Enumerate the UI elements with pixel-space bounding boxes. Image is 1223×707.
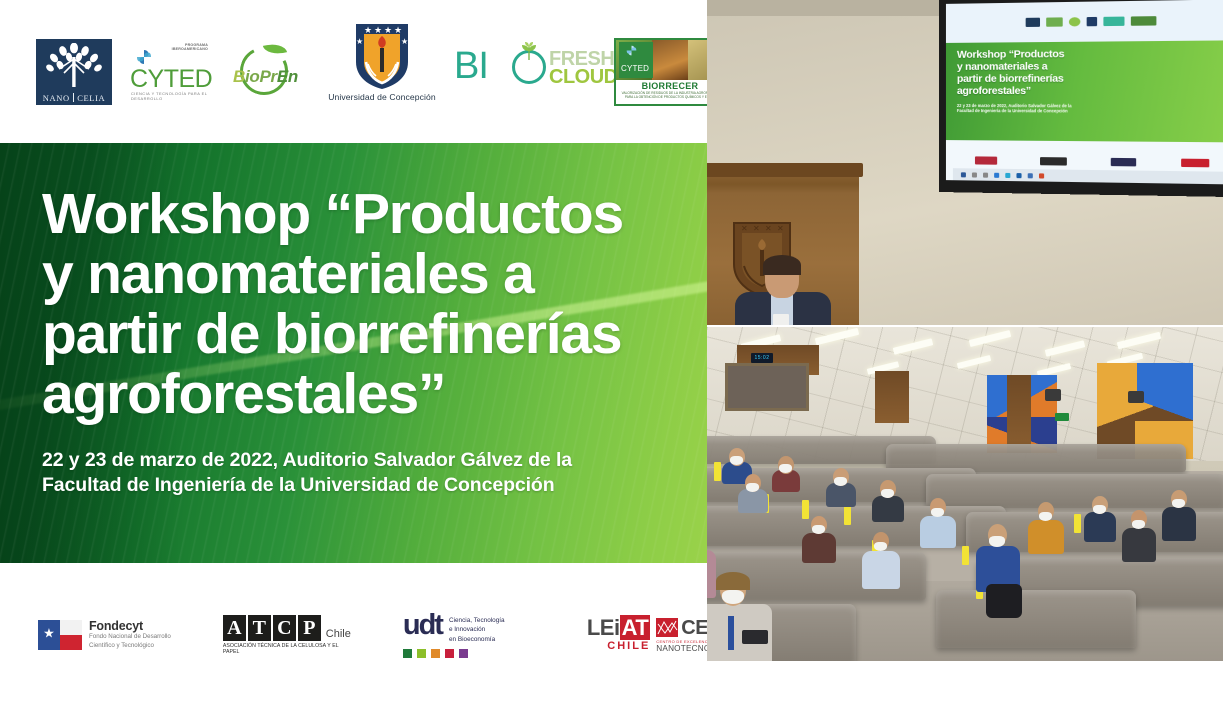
slide-logo-udec <box>1086 17 1096 26</box>
svg-text:★: ★ <box>401 37 408 46</box>
slide-top-logos <box>946 0 1223 43</box>
svg-text:✕: ✕ <box>741 224 748 233</box>
logo-nano-celia: NANOCELIA <box>36 39 112 105</box>
svg-text:★: ★ <box>384 26 392 36</box>
svg-text:★: ★ <box>374 26 382 36</box>
attendee <box>862 532 900 588</box>
event-poster: NANOCELIA PROGRAMA IBEROAMERICANO CYTED … <box>0 0 707 707</box>
slide-logo-leitat-cen <box>1181 158 1209 167</box>
projection-screen-frame: Workshop “Productos y nanomateriales a p… <box>939 0 1223 197</box>
attendee <box>976 524 1020 616</box>
udec-shield-icon: ★ ★ ★ ★ ★ ★ <box>354 22 410 90</box>
projected-slide: Workshop “Productos y nanomateriales a p… <box>946 0 1223 185</box>
cyted-program-label: PROGRAMA IBEROAMERICANO <box>172 43 208 52</box>
photo-speaker-at-podium: Workshop “Productos y nanomateriales a p… <box>707 0 1223 325</box>
speaker-hair <box>763 255 801 275</box>
wall-speaker <box>1128 391 1144 403</box>
atcp-letter-a: A <box>223 615 246 641</box>
logo-bio-fresh-cloud: BI FRESH CLOUD <box>454 39 596 105</box>
attendee <box>1028 502 1064 552</box>
fondecyt-desc-line2: Científico y Tecnológico <box>89 642 171 651</box>
atcp-tagline: ASOCIACIÓN TÉCNICA DE LA CELULOSA Y EL P… <box>223 643 351 655</box>
logo-udt: udt Ciencia, Tecnología e Innovación en … <box>403 612 535 659</box>
slide-logo-biorrecer <box>1130 16 1156 26</box>
udec-wordmark: Universidad de Concepción <box>328 92 436 102</box>
page-title: Workshop “Productos y nanomateriales a p… <box>42 185 662 424</box>
slide-logo-biopren <box>1068 17 1079 26</box>
subtitle-line: 22 y 23 de marzo de 2022, Auditorio Salv… <box>42 448 572 474</box>
hero-green-band: Workshop “Productos y nanomateriales a p… <box>0 143 707 563</box>
cyted-wordmark: CYTED <box>130 65 212 94</box>
slide-logo-cyted <box>1046 17 1063 26</box>
svg-text:✕: ✕ <box>753 224 760 233</box>
slide-taskbar <box>953 168 1223 184</box>
attendee <box>772 456 800 490</box>
logo-biopren: BioPrEn <box>226 39 310 105</box>
photo-crop-pinecone <box>652 40 688 80</box>
slide-subtitle: 22 y 23 de marzo de 2022, Auditorio Salv… <box>957 103 1223 115</box>
wood-wall-strip <box>1007 375 1031 453</box>
fondecyt-wordmark: Fondecyt <box>89 619 171 634</box>
udt-tagline: Ciencia, Tecnología e Innovación en Bioe… <box>449 612 505 645</box>
slide-hero: Workshop “Productos y nanomateriales a p… <box>946 40 1223 142</box>
seating-area <box>707 454 1223 661</box>
attendee <box>707 526 716 598</box>
distancing-marker <box>962 546 969 565</box>
svg-text:✕: ✕ <box>765 224 772 233</box>
cyted-mark-icon <box>136 49 152 65</box>
udt-color-squares <box>403 649 535 658</box>
distancing-marker <box>844 506 851 525</box>
subtitle-line: Facultad de Ingeniería de la Universidad… <box>42 473 572 499</box>
title-line: Workshop “Productos <box>42 185 662 245</box>
title-line: agroforestales” <box>42 365 662 425</box>
attendee <box>826 468 856 504</box>
event-subtitle: 22 y 23 de marzo de 2022, Auditorio Salv… <box>42 448 572 499</box>
logo-cyted: PROGRAMA IBEROAMERICANO CYTED CIENCIA Y … <box>130 39 208 105</box>
attendee <box>1122 510 1156 562</box>
seat-row <box>936 590 1136 648</box>
gobierno-de-chile-icon: ★ <box>38 620 82 650</box>
distancing-marker <box>714 462 721 481</box>
attendee <box>872 480 904 520</box>
logo-leitat-chile: LEiAT CHILE <box>587 617 650 652</box>
slide-title: Workshop “Productos y nanomateriales a p… <box>957 47 1223 97</box>
distancing-marker <box>1074 514 1081 533</box>
logo-atcp-chile: A T C P Chile ASOCIACIÓN TÉCNICA DE LA C… <box>223 615 351 655</box>
nano-celia-wordmark: NANOCELIA <box>36 93 112 103</box>
fondecyt-desc-line1: Fondo Nacional de Desarrollo <box>89 633 171 642</box>
atcp-letter-p: P <box>298 615 321 641</box>
wooden-podium: ✕ ✕ ✕ ✕ <box>707 172 859 325</box>
attendee-foreground <box>707 574 772 661</box>
photo-bottom-margin <box>707 661 1223 707</box>
atcp-letter-c: C <box>273 615 296 641</box>
atcp-letter-t: T <box>248 615 271 641</box>
attendee <box>738 474 768 512</box>
svg-text:★: ★ <box>394 26 402 36</box>
cen-network-icon <box>656 618 678 637</box>
wood-door-panel <box>875 371 909 423</box>
biopren-wordmark: BioPrEn <box>233 67 298 87</box>
wall-speaker <box>1045 389 1061 401</box>
bottom-sponsor-logo-strip: ★ Fondecyt Fondo Nacional de Desarrollo … <box>0 563 707 707</box>
exit-sign <box>1055 413 1069 421</box>
slide-logo-biofreshcloud <box>1103 16 1124 26</box>
top-sponsor-logo-strip: NANOCELIA PROGRAMA IBEROAMERICANO CYTED … <box>0 0 707 143</box>
poster-page: NANOCELIA PROGRAMA IBEROAMERICANO CYTED … <box>0 0 1223 707</box>
svg-text:★: ★ <box>356 37 363 46</box>
speaker-person <box>735 258 831 325</box>
logo-universidad-de-concepcion: ★ ★ ★ ★ ★ ★ Universidad de Concepción <box>328 22 436 122</box>
attendee <box>802 516 836 562</box>
tree-icon <box>45 43 103 87</box>
rear-display-screen <box>725 363 809 411</box>
leitat-chile-text: CHILE <box>587 641 650 652</box>
slide-logo-udt <box>1111 158 1136 167</box>
cyted-tagline: CIENCIA Y TECNOLOGÍA PARA EL DESARROLLO <box>131 91 208 101</box>
podium-top-edge <box>707 163 863 177</box>
udt-wordmark: udt <box>403 612 442 638</box>
slide-logo-fondecyt <box>975 156 997 164</box>
biofreshcloud-bi-text: BI <box>454 47 488 85</box>
photo-auditorium-audience: 15:02 <box>707 327 1223 661</box>
attendee <box>920 498 956 546</box>
digital-clock: 15:02 <box>751 353 773 363</box>
slide-logo-nanocelia <box>1025 18 1039 27</box>
cyted-mark-icon <box>626 45 637 56</box>
title-line: y nanomateriales a <box>42 245 662 305</box>
sprout-icon <box>518 41 540 61</box>
title-line: partir de biorrefinerías <box>42 305 662 365</box>
svg-text:★: ★ <box>364 26 372 36</box>
biofreshcloud-cloud-text: CLOUD <box>549 67 618 87</box>
atcp-chile-text: Chile <box>326 628 351 641</box>
photo-column: Workshop “Productos y nanomateriales a p… <box>707 0 1223 707</box>
speaker-badge <box>773 314 789 325</box>
svg-text:✕: ✕ <box>777 224 784 233</box>
biorrecer-cyted-text: CYTED <box>621 64 649 73</box>
attendee <box>1162 490 1196 540</box>
attendee <box>1084 496 1116 542</box>
biorrecer-cyted-badge: CYTED <box>619 42 653 78</box>
slide-logo-atcp <box>1040 157 1067 165</box>
logo-fondecyt: ★ Fondecyt Fondo Nacional de Desarrollo … <box>38 619 171 652</box>
leitat-wordmark: LEiAT <box>587 617 650 639</box>
